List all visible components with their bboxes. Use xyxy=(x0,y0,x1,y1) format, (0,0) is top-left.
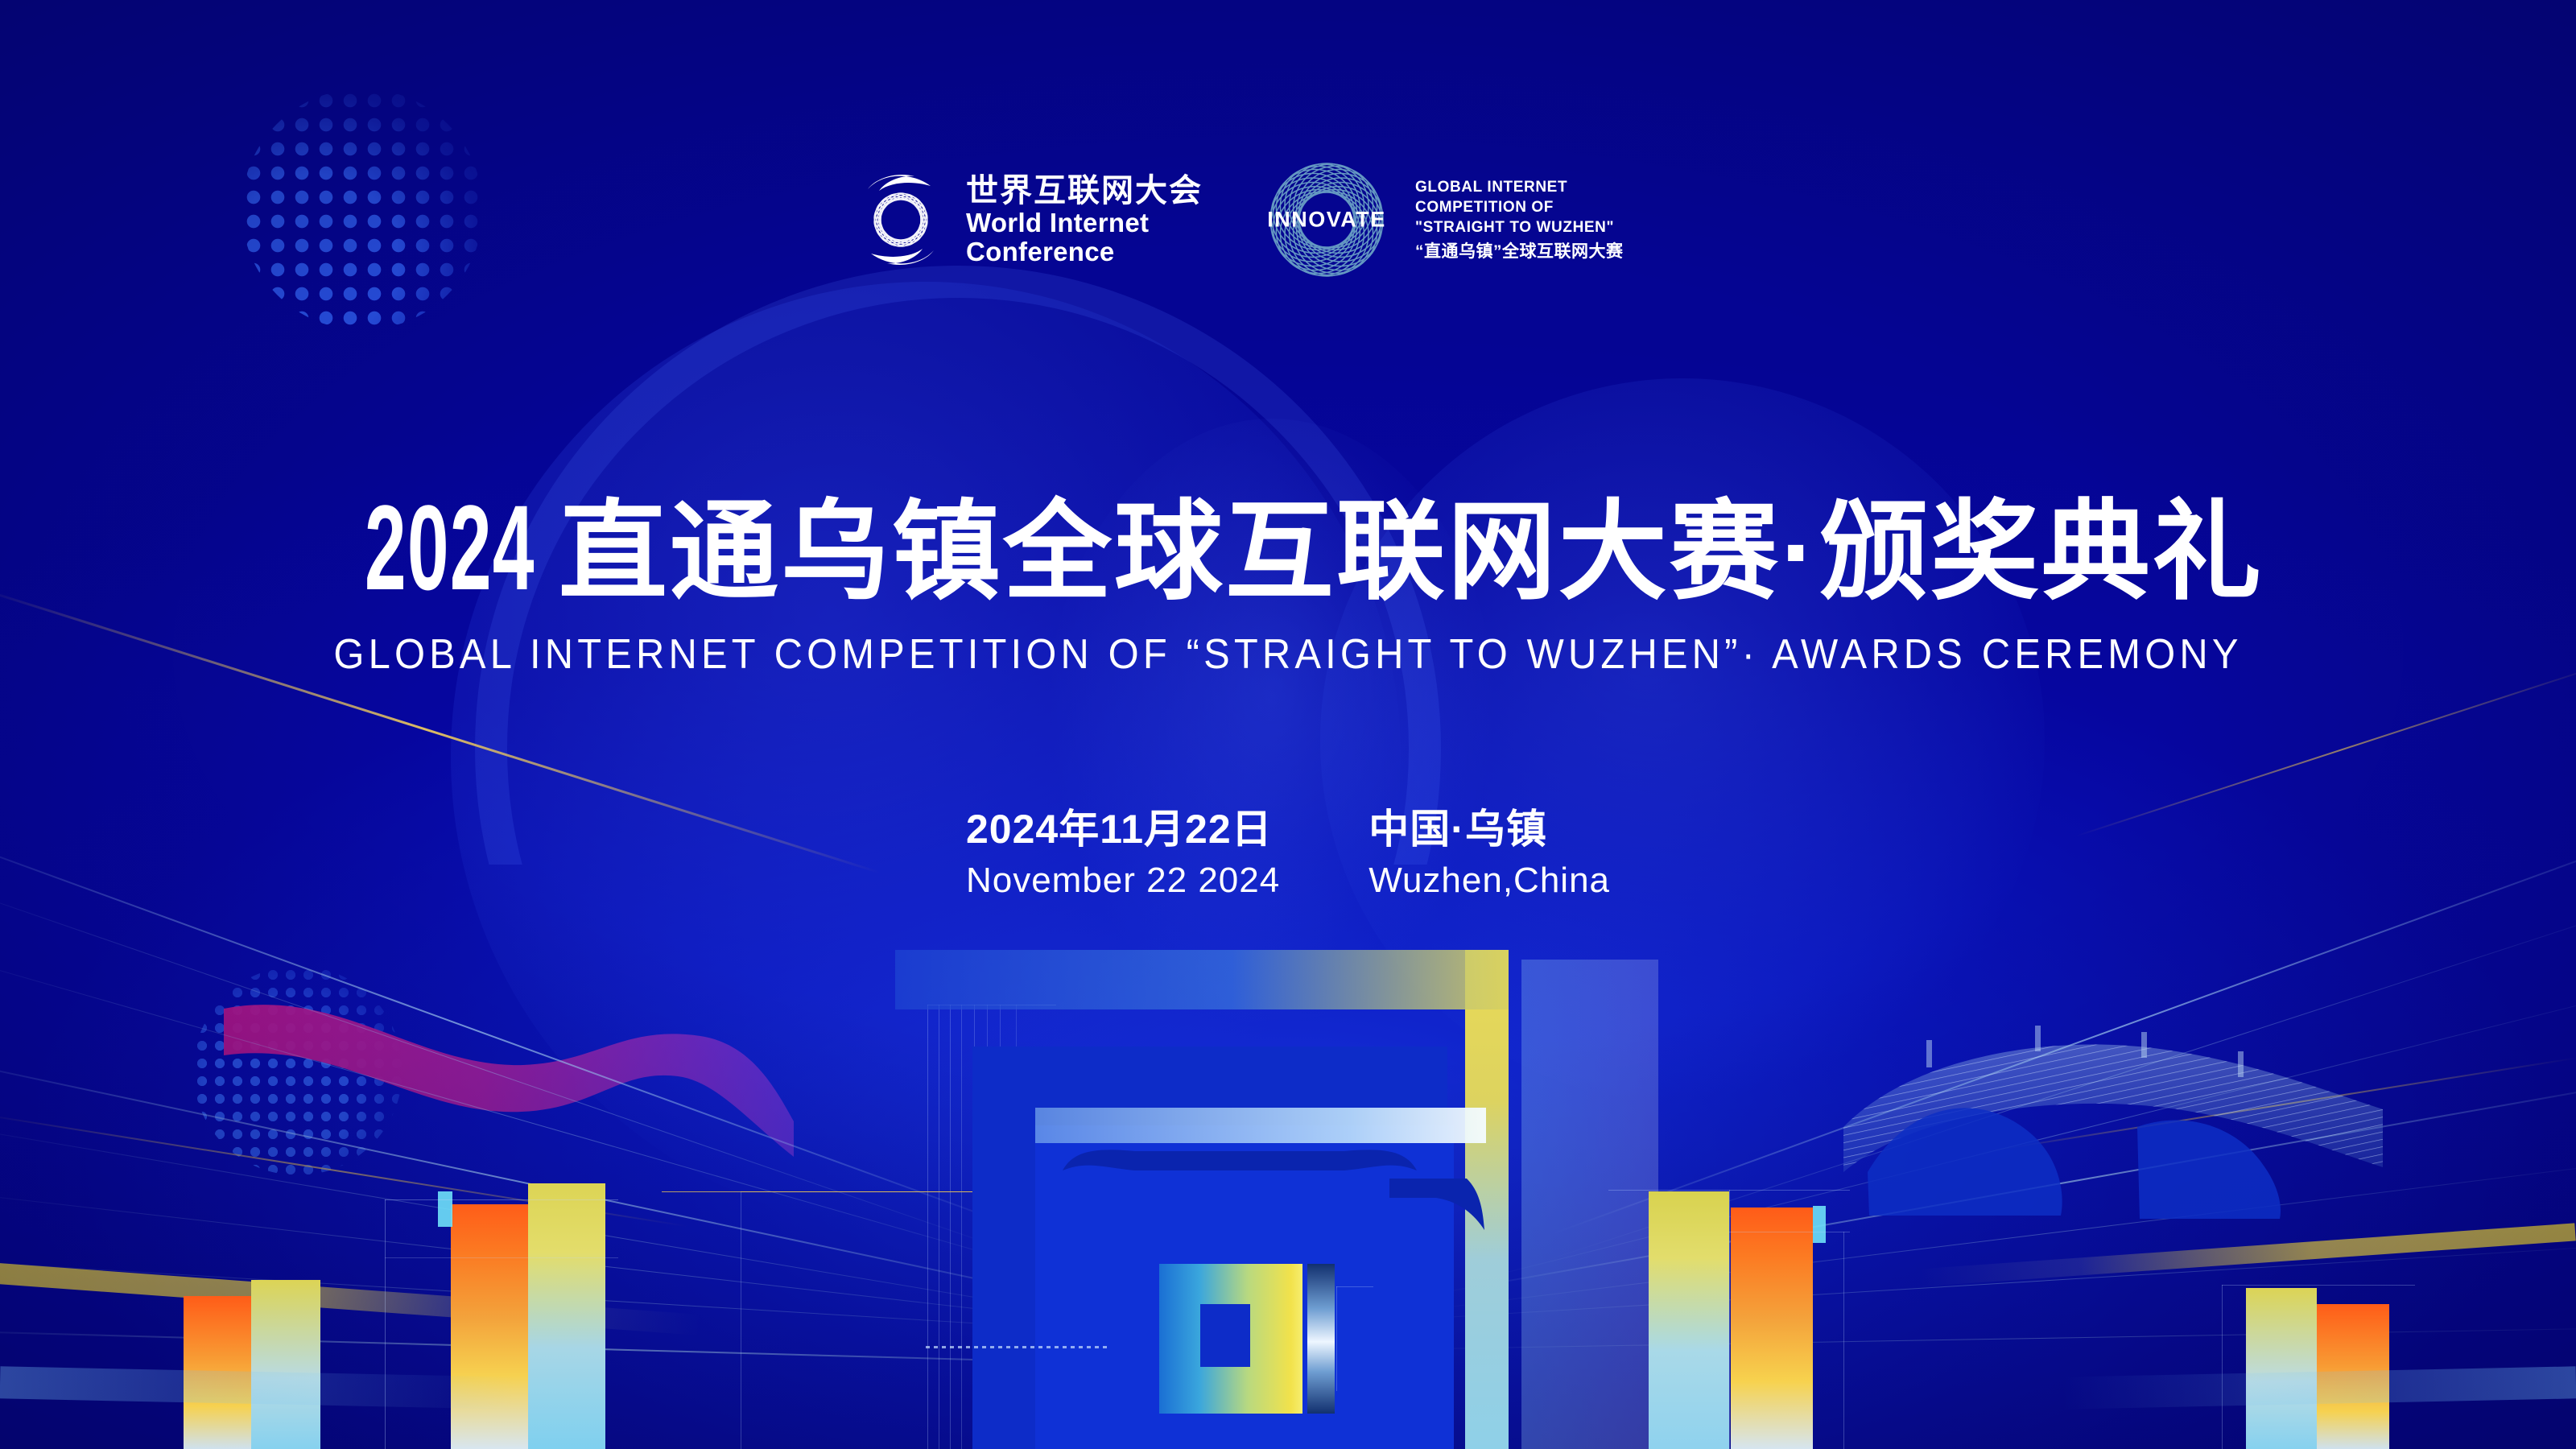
hairline-horizontal xyxy=(1729,1232,1850,1232)
pillar-yellow-cyan-right xyxy=(1649,1191,1729,1449)
event-date: 2024年11月22日 November 22 2024 xyxy=(966,805,1280,902)
event-date-english: November 22 2024 xyxy=(966,859,1280,902)
gate-eave-right-icon xyxy=(1389,1174,1486,1236)
gate-doorway-highlight xyxy=(1307,1264,1335,1414)
pillar-cyan-chip xyxy=(438,1191,452,1227)
logo-row: 世界互联网大会 World Internet Conference xyxy=(853,149,1624,291)
dotted-accent-line xyxy=(926,1346,1111,1348)
hairline-vertical xyxy=(1843,1232,1844,1449)
title-block: 2024 直通乌镇全球互联网大赛·颁奖典礼 GLOBAL INTERNET CO… xyxy=(0,463,2576,679)
gate-doorway-center xyxy=(1200,1304,1250,1367)
hairline-vertical xyxy=(385,1199,386,1449)
event-place-chinese: 中国·乌镇 xyxy=(1368,805,1610,854)
title-chinese: 直通乌镇全球互联网大赛·颁奖典礼 xyxy=(559,463,2264,621)
hairline-horizontal xyxy=(1336,1286,1373,1287)
wic-english-line2: Conference xyxy=(966,237,1203,266)
hairline-horizontal xyxy=(2222,1285,2415,1286)
event-place-english: Wuzhen,China xyxy=(1368,859,1610,902)
event-meta-row: 2024年11月22日 November 22 2024 中国·乌镇 Wuzhe… xyxy=(0,805,2576,902)
main-title: 2024 直通乌镇全球互联网大赛·颁奖典礼 xyxy=(312,463,2264,621)
hairline-horizontal xyxy=(385,1199,618,1200)
title-year: 2024 xyxy=(365,478,535,617)
glow-band-left xyxy=(0,1366,515,1409)
event-place: 中国·乌镇 Wuzhen,China xyxy=(1368,805,1610,902)
pillar-cyan-chip xyxy=(1813,1206,1826,1243)
wic-chinese-name: 世界互联网大会 xyxy=(966,174,1203,208)
hairline-vertical xyxy=(1336,1286,1337,1391)
world-internet-conference-logo: 世界互联网大会 World Internet Conference xyxy=(853,168,1203,271)
gate-inner-lintel-glow xyxy=(1035,1108,1486,1143)
innovate-logo: INNOVATE GLOBAL INTERNET COMPETITION OF … xyxy=(1256,149,1624,291)
glow-band-right xyxy=(2061,1366,2576,1409)
innovate-wordmark: INNOVATE xyxy=(1256,208,1397,233)
pillar-orange-left xyxy=(451,1204,528,1449)
pillar-orange-right xyxy=(1731,1207,1813,1449)
pillar-yellow-cyan-edge-left xyxy=(251,1280,320,1449)
pillar-yellow-cyan-left xyxy=(528,1183,605,1449)
event-key-visual-poster: 世界互联网大会 World Internet Conference xyxy=(0,0,2576,1449)
title-english-subtitle: GLOBAL INTERNET COMPETITION OF “STRAIGHT… xyxy=(77,630,2499,679)
hairline-vertical xyxy=(741,1191,741,1449)
hairline-vertical xyxy=(2222,1285,2223,1449)
wuzhen-arch-bridge-silhouette-icon xyxy=(1819,1014,2415,1280)
wic-english-line1: World Internet xyxy=(966,208,1203,237)
innovate-line3: "STRAIGHT TO WUZHEN" xyxy=(1415,217,1624,237)
innovate-line2: COMPETITION OF xyxy=(1415,197,1624,217)
foreground-architecture xyxy=(0,950,2576,1449)
hairline-horizontal xyxy=(385,1257,618,1258)
glass-panel-right xyxy=(1521,960,1658,1449)
gate-eave-icon xyxy=(1063,1143,1417,1199)
event-date-chinese: 2024年11月22日 xyxy=(966,805,1280,854)
innovate-chinese-name: “直通乌镇”全球互联网大赛 xyxy=(1415,241,1624,263)
hairline-horizontal xyxy=(1608,1190,1850,1191)
pillar-yellow-cyan-edge-right xyxy=(2246,1288,2317,1449)
gate-outer-lintel xyxy=(895,950,1509,1009)
innovate-line1: GLOBAL INTERNET xyxy=(1415,177,1624,197)
wic-swirl-logo-icon xyxy=(853,168,948,271)
hairline-vertical xyxy=(1729,1190,1730,1449)
